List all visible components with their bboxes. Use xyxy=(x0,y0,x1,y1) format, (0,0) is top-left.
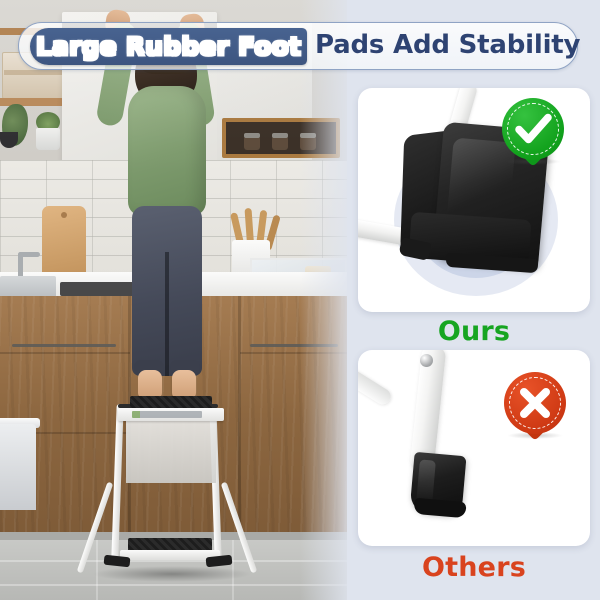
cross-badge xyxy=(504,372,566,434)
label-others: Others xyxy=(358,552,590,583)
product-feature-graphic: Large Rubber Foot Pads Add Stability Our… xyxy=(0,0,600,600)
cross-icon xyxy=(504,372,566,434)
lifestyle-photo xyxy=(0,0,347,600)
comparison-card-ours xyxy=(358,88,590,312)
others-leg-rivet xyxy=(420,354,433,367)
headline-highlight-pill: Large Rubber Foot xyxy=(30,28,307,65)
photo-overlay xyxy=(0,0,347,600)
photo-right-fade xyxy=(300,0,347,600)
check-icon xyxy=(502,98,564,160)
others-cap-contact-surface xyxy=(413,498,466,518)
headline-banner: Large Rubber Foot Pads Add Stability xyxy=(18,22,578,70)
others-stool-brace xyxy=(358,355,394,408)
comparison-card-others xyxy=(358,350,590,546)
check-badge xyxy=(502,98,564,160)
headline-highlight-text: Large Rubber Foot xyxy=(36,32,301,61)
headline-tail-text: Pads Add Stability xyxy=(315,30,580,60)
label-ours: Ours xyxy=(358,316,590,347)
